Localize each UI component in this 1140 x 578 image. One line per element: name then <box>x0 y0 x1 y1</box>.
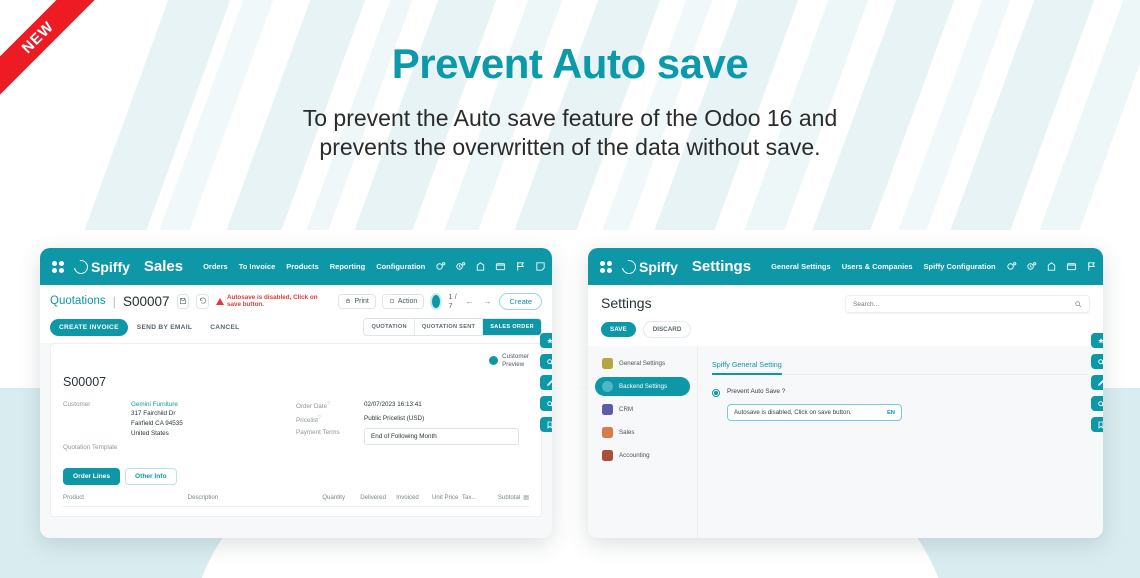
brand-name: Spiffy <box>91 259 130 275</box>
search-icon[interactable] <box>1074 300 1082 308</box>
pager-count: 1 / 7 <box>448 292 457 310</box>
column-tax: Tax... <box>462 494 498 501</box>
search-input[interactable] <box>853 301 1074 308</box>
print-button[interactable]: Print <box>338 294 375 309</box>
settings-search-box[interactable] <box>845 295 1090 313</box>
status-bar: QUOTATION QUOTATION SENT SALES ORDER <box>363 318 542 336</box>
status-quotation[interactable]: QUOTATION <box>364 319 414 335</box>
field-order-date-value[interactable]: 02/07/2023 16:13:41 <box>364 400 422 410</box>
autosave-message-value: Autosave is disabled, Click on save butt… <box>734 409 887 416</box>
record-fields: Customer Gemini Furniture 317 Fairchild … <box>63 400 529 455</box>
zoom-icon[interactable] <box>1091 396 1103 411</box>
create-invoice-button[interactable]: CREATE INVOICE <box>50 319 128 336</box>
sidebar-item-backend-settings[interactable]: Backend Settings <box>595 377 690 396</box>
sales-side-toolbar <box>540 333 552 432</box>
sidebar-label-accounting: Accounting <box>619 452 650 459</box>
create-button[interactable]: Create <box>499 293 542 310</box>
breadcrumb-separator: | <box>113 294 116 309</box>
field-pricelist: Pricelist? Public Pricelist (USD) <box>296 414 529 424</box>
record-action-buttons: CREATE INVOICE SEND BY EMAIL CANCEL QUOT… <box>50 310 542 343</box>
page-title: Prevent Auto save <box>0 40 1140 88</box>
smart-button-row: Customer Preview <box>63 353 529 369</box>
status-circle-button[interactable] <box>430 293 442 310</box>
warning-triangle-icon <box>216 298 224 305</box>
sales-topbar: Spiffy Sales Orders To Invoice Products … <box>40 248 552 285</box>
chat-icon[interactable] <box>435 261 446 272</box>
column-invoiced: Invoiced <box>396 494 432 501</box>
customer-address-line2: Fairfield CA 94535 <box>131 420 183 427</box>
autosave-warning-text: Autosave is disabled, Click on save butt… <box>227 294 332 308</box>
zoom-icon[interactable] <box>540 396 552 411</box>
brand-name: Spiffy <box>639 259 678 275</box>
sales-menu: Orders To Invoice Products Reporting Con… <box>203 262 425 271</box>
customer-preview-button[interactable]: Customer Preview <box>489 353 529 369</box>
settings-header: Settings <box>588 285 1103 321</box>
settings-sidebar: General Settings Backend Settings CRM Sa… <box>588 346 698 538</box>
subtitle-line-2: prevents the overwritten of the data wit… <box>0 133 1140 162</box>
control-panel-right: Print Action 1 / 7 ← → Create <box>338 292 542 310</box>
optional-columns-icon[interactable]: ▤ <box>523 494 529 501</box>
menu-item-general-settings[interactable]: General Settings <box>771 262 831 271</box>
column-quantity: Quantity <box>322 494 360 501</box>
field-payment-terms-label: Payment Terms <box>296 428 364 445</box>
bookmark-icon[interactable] <box>540 417 552 432</box>
sales-app-window: Spiffy Sales Orders To Invoice Products … <box>40 248 552 538</box>
general-settings-icon <box>602 358 613 369</box>
prevent-auto-save-option: Prevent Auto Save ? <box>712 388 1089 397</box>
sales-system-icons <box>435 257 552 276</box>
status-quotation-sent[interactable]: QUOTATION SENT <box>415 319 483 335</box>
activity-icon[interactable] <box>1026 261 1037 272</box>
field-order-date: Order Date? 02/07/2023 16:13:41 <box>296 400 529 410</box>
print-button-label: Print <box>354 298 368 305</box>
pager-previous-button[interactable]: ← <box>463 297 475 306</box>
column-product: Product <box>63 494 188 501</box>
sidebar-label-sales: Sales <box>619 429 634 436</box>
record-tabs: Order Lines Other Info <box>63 468 529 485</box>
globe-icon <box>489 356 498 365</box>
prevent-auto-save-checkbox[interactable] <box>712 389 720 397</box>
settings-system-icons <box>1006 257 1103 276</box>
field-customer-value: Gemini Furniture 317 Fairchild Dr Fairfi… <box>131 400 183 439</box>
apps-grid-icon[interactable] <box>600 261 612 273</box>
action-button-label: Action <box>398 298 417 305</box>
field-customer: Customer Gemini Furniture 317 Fairchild … <box>63 400 296 439</box>
settings-body: General Settings Backend Settings CRM Sa… <box>588 346 1103 538</box>
note-icon[interactable] <box>535 261 546 272</box>
sidebar-item-crm[interactable]: CRM <box>595 400 690 419</box>
menu-item-orders[interactable]: Orders <box>203 262 228 271</box>
accounting-icon <box>602 450 613 461</box>
app-name: Settings <box>692 258 751 275</box>
subtitle-line-1: To prevent the Auto save feature of the … <box>0 104 1140 133</box>
settings-menu: General Settings Users & Companies Spiff… <box>771 262 996 271</box>
customer-name-link[interactable]: Gemini Furniture <box>131 401 178 408</box>
save-icon[interactable] <box>177 294 190 309</box>
brand-logo[interactable]: Spiffy <box>74 259 130 275</box>
record-fields-left: Customer Gemini Furniture 317 Fairchild … <box>63 400 296 455</box>
settings-topbar: Spiffy Settings General Settings Users &… <box>588 248 1103 285</box>
customer-address-line1: 317 Fairchild Dr <box>131 410 175 417</box>
spiffy-swirl-icon <box>71 257 90 276</box>
status-sales-order[interactable]: SALES ORDER <box>483 319 541 335</box>
search-icon[interactable] <box>540 354 552 369</box>
bookmark-icon[interactable] <box>1091 417 1103 432</box>
menu-item-spiffy-configuration[interactable]: Spiffy Configuration <box>924 262 996 271</box>
breadcrumb: Quotations | S00007 Autosave is disabled… <box>50 292 542 310</box>
column-subtotal: Subtotal <box>498 494 520 501</box>
app-name: Sales <box>144 258 183 275</box>
sidebar-label-general-settings: General Settings <box>619 360 665 367</box>
record-title: S00007 <box>63 375 529 389</box>
menu-item-configuration[interactable]: Configuration <box>376 262 425 271</box>
flag-icon[interactable] <box>515 261 526 272</box>
autosave-message-input[interactable]: Autosave is disabled, Click on save butt… <box>727 404 902 421</box>
mail-icon[interactable] <box>1066 261 1077 272</box>
activity-icon[interactable] <box>455 261 466 272</box>
field-pricelist-label: Pricelist? <box>296 414 364 424</box>
spiffy-swirl-icon <box>619 257 638 276</box>
payment-terms-input[interactable]: End of Following Month <box>364 428 519 445</box>
record-fields-right: Order Date? 02/07/2023 16:13:41 Pricelis… <box>296 400 529 455</box>
sales-icon <box>602 427 613 438</box>
column-delivered: Delivered <box>360 494 396 501</box>
field-payment-terms: Payment Terms End of Following Month <box>296 428 529 445</box>
field-quotation-template: Quotation Template <box>63 443 296 451</box>
sidebar-item-sales[interactable]: Sales <box>595 423 690 442</box>
customer-preview-line1: Customer <box>502 353 529 360</box>
banner-headings: Prevent Auto save To prevent the Auto sa… <box>0 40 1140 162</box>
save-button[interactable]: SAVE <box>601 322 636 337</box>
sidebar-item-accounting[interactable]: Accounting <box>595 446 690 465</box>
menu-item-to-invoice[interactable]: To Invoice <box>239 262 276 271</box>
sales-control-panel: Quotations | S00007 Autosave is disabled… <box>40 285 552 343</box>
prevent-auto-save-label: Prevent Auto Save ? <box>727 388 785 395</box>
order-lines-table-header: Product Description Quantity Delivered I… <box>63 494 529 507</box>
backend-settings-icon <box>602 381 613 392</box>
edit-icon[interactable] <box>540 375 552 390</box>
autosave-warning: Autosave is disabled, Click on save butt… <box>216 294 332 308</box>
star-icon[interactable] <box>1091 333 1103 348</box>
send-by-email-button[interactable]: SEND BY EMAIL <box>128 319 201 336</box>
edit-icon[interactable] <box>1091 375 1103 390</box>
sidebar-item-general-settings[interactable]: General Settings <box>595 354 690 373</box>
tab-order-lines[interactable]: Order Lines <box>63 468 120 485</box>
language-badge[interactable]: EN <box>887 410 895 416</box>
sidebar-label-backend-settings: Backend Settings <box>619 383 667 390</box>
menu-item-reporting[interactable]: Reporting <box>330 262 365 271</box>
brand-logo[interactable]: Spiffy <box>622 259 678 275</box>
field-quotation-template-label: Quotation Template <box>63 443 131 451</box>
apps-grid-icon[interactable] <box>52 261 64 273</box>
discard-icon[interactable] <box>196 294 209 309</box>
chat-icon[interactable] <box>1006 261 1017 272</box>
settings-app-window: Spiffy Settings General Settings Users &… <box>588 248 1103 538</box>
column-unit-price: Unit Price <box>432 494 462 501</box>
section-title-spiffy-general-setting: Spiffy General Setting <box>712 360 782 375</box>
field-order-date-label: Order Date? <box>296 400 364 410</box>
mail-icon[interactable] <box>495 261 506 272</box>
settings-page-title: Settings <box>601 295 652 311</box>
breadcrumb-current-record: S00007 <box>123 294 170 309</box>
action-button[interactable]: Action <box>382 294 424 309</box>
customer-address-line3: United States <box>131 430 169 437</box>
sidebar-label-crm: CRM <box>619 406 633 413</box>
print-icon[interactable] <box>1046 261 1057 272</box>
settings-main-panel: Spiffy General Setting Prevent Auto Save… <box>698 346 1103 538</box>
customer-preview-line2: Preview <box>502 361 524 368</box>
field-pricelist-value[interactable]: Public Pricelist (USD) <box>364 414 424 424</box>
field-customer-label: Customer <box>63 400 131 439</box>
star-icon[interactable] <box>540 333 552 348</box>
customer-preview-label: Customer Preview <box>502 353 529 369</box>
breadcrumb-quotations[interactable]: Quotations <box>50 295 106 307</box>
pager-next-button[interactable]: → <box>481 297 493 306</box>
print-icon[interactable] <box>475 261 486 272</box>
column-description: Description <box>188 494 323 501</box>
crm-icon <box>602 404 613 415</box>
settings-action-buttons: SAVE DISCARD <box>588 321 1103 346</box>
menu-item-products[interactable]: Products <box>286 262 319 271</box>
record-sheet: Customer Preview S00007 Customer Gemini … <box>50 343 542 517</box>
menu-item-users-companies[interactable]: Users & Companies <box>842 262 913 271</box>
search-icon[interactable] <box>1091 354 1103 369</box>
settings-side-toolbar <box>1091 333 1103 432</box>
page-subtitle: To prevent the Auto save feature of the … <box>0 104 1140 162</box>
cancel-button[interactable]: CANCEL <box>201 319 248 336</box>
discard-button[interactable]: DISCARD <box>643 321 692 338</box>
tab-other-info[interactable]: Other Info <box>125 468 177 485</box>
flag-icon[interactable] <box>1086 261 1097 272</box>
